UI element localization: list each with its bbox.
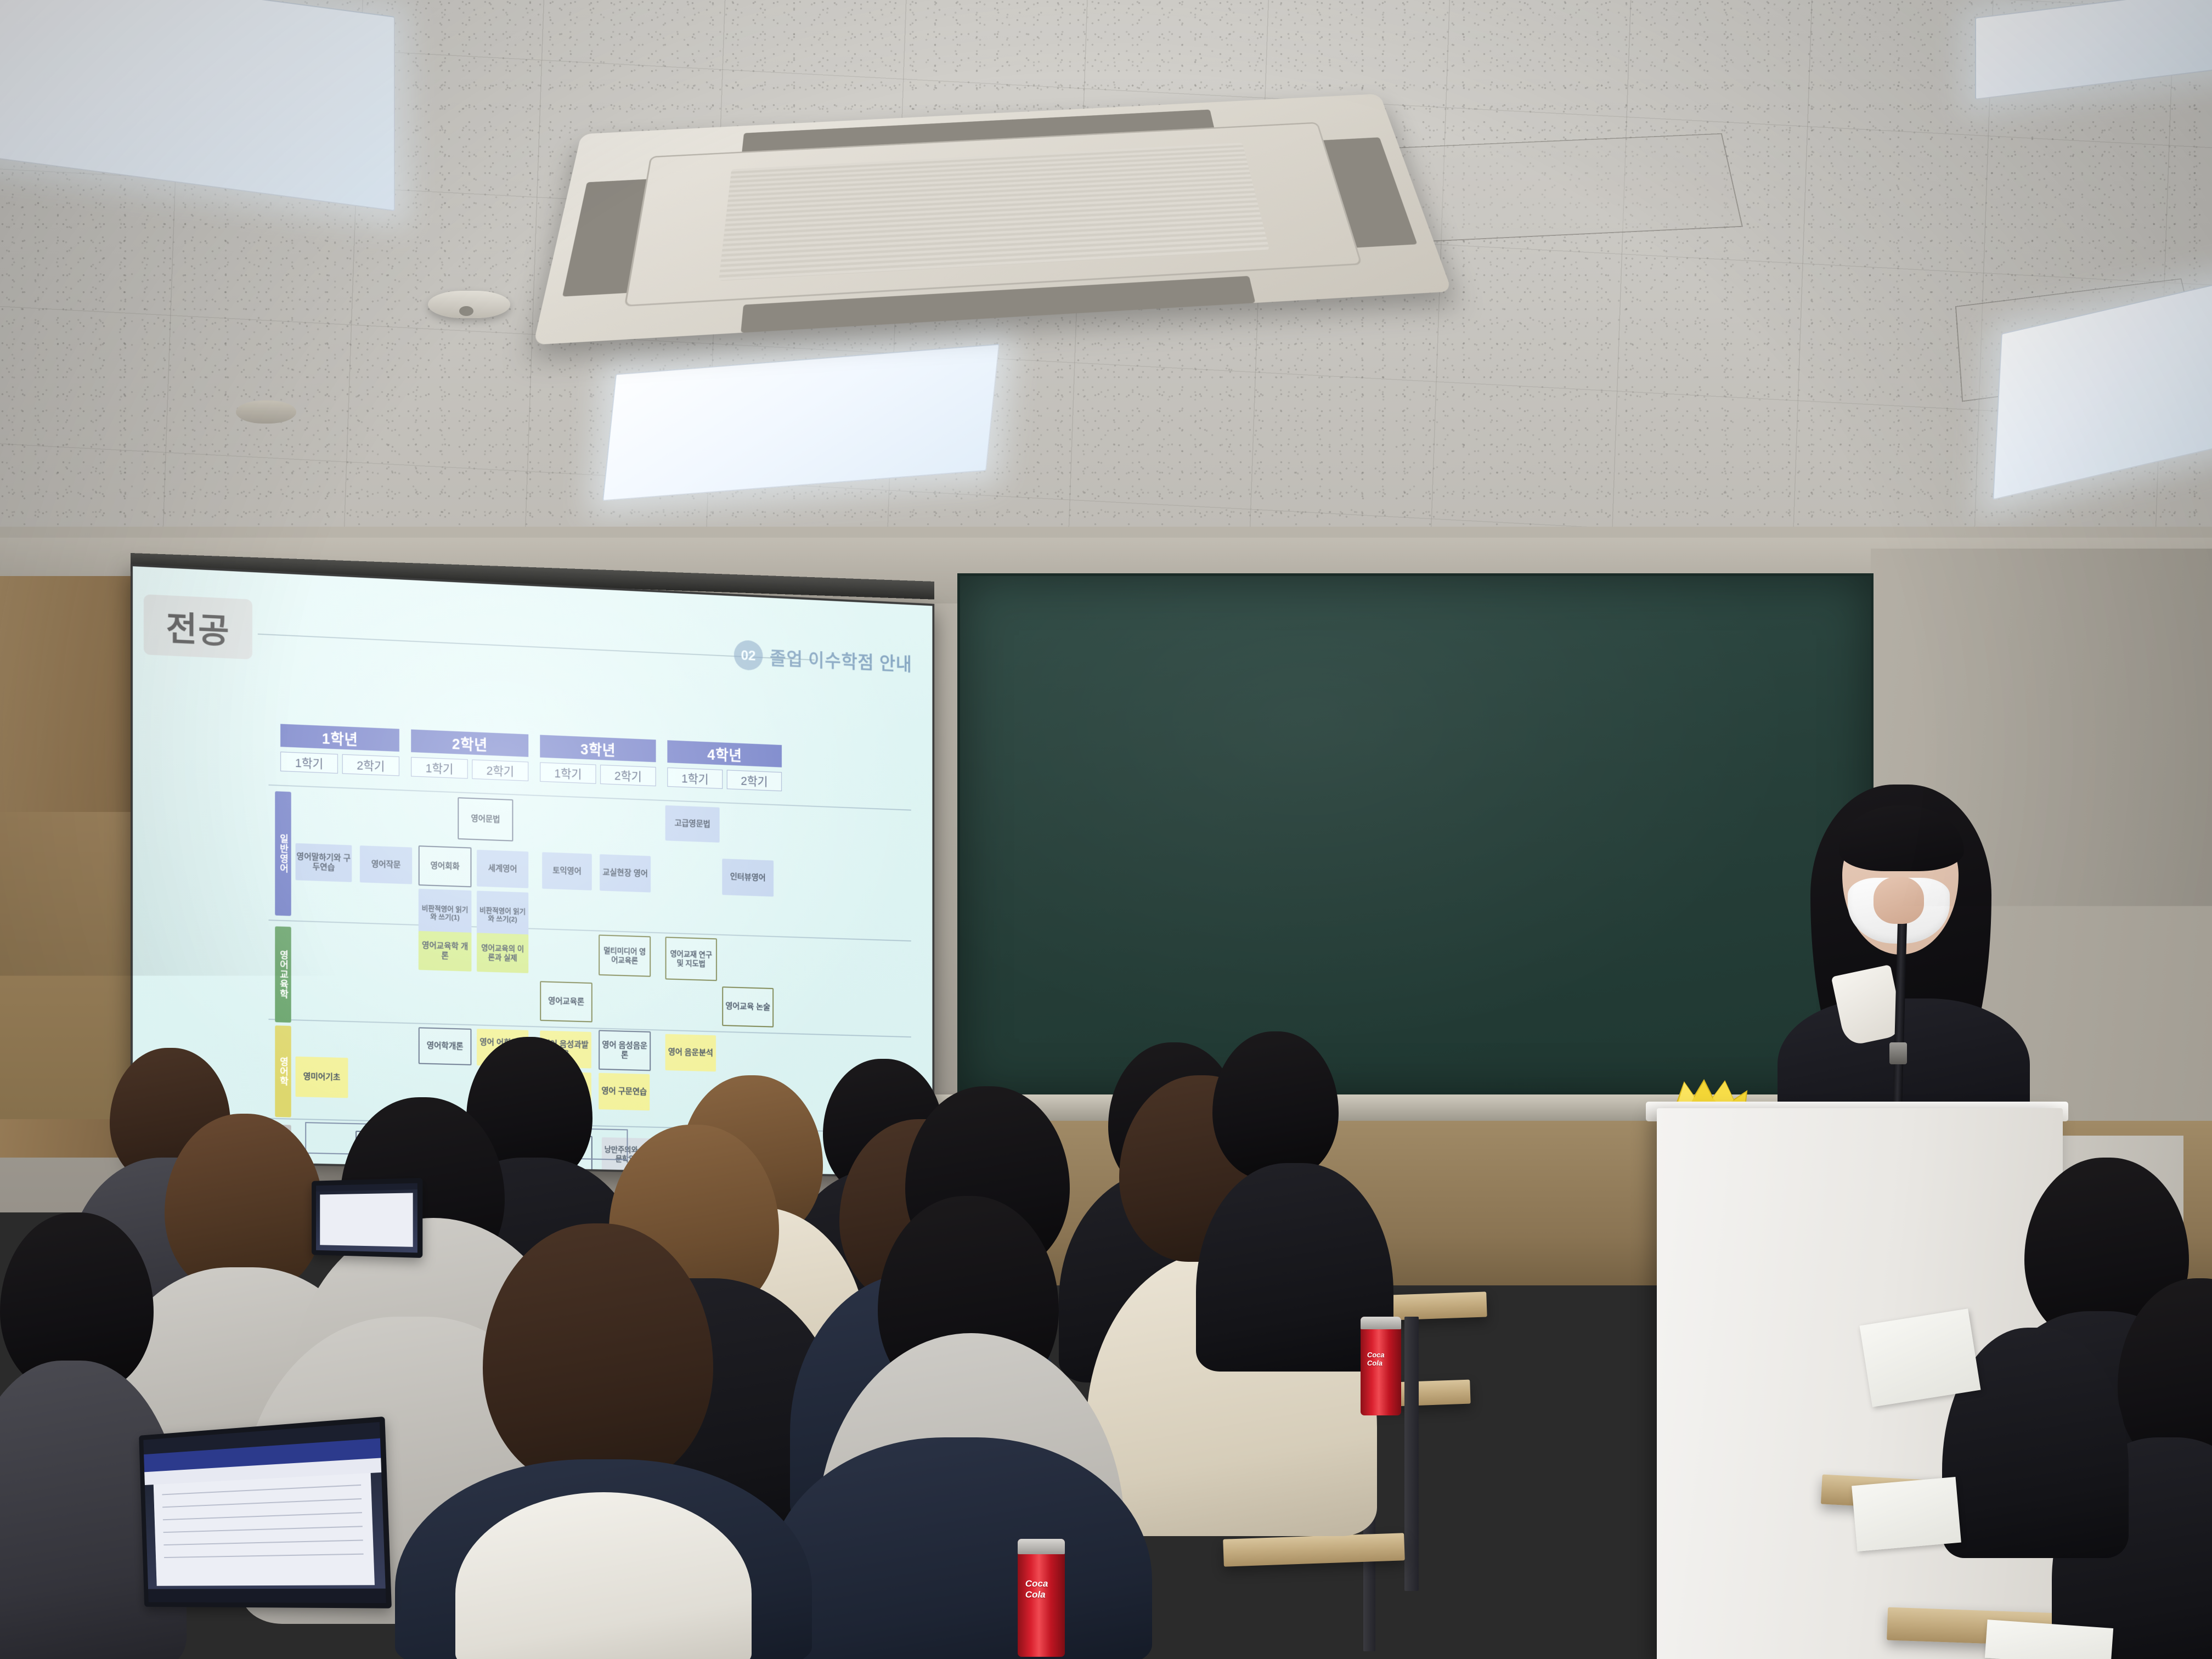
slide-title-chip: 전공 — [144, 594, 252, 659]
audience-head — [483, 1223, 713, 1487]
laptop-titlebar — [316, 1183, 417, 1192]
semester-cell: 2학기 — [600, 765, 656, 786]
handout-paper — [1859, 1308, 1980, 1407]
smoke-detector-icon — [428, 291, 510, 318]
band-separator — [268, 785, 911, 811]
can-brand-label: Coca Cola — [1367, 1346, 1396, 1372]
can-top — [1361, 1317, 1401, 1329]
laptop-document-page — [320, 1193, 413, 1247]
semester-cell: 1학기 — [280, 752, 338, 774]
grade-column: 4학년 1학기 2학기 — [667, 740, 782, 791]
course-box: 영어작문 — [360, 845, 412, 884]
left-wall-panel — [0, 812, 137, 1119]
course-box: 교실현장 영어 — [600, 854, 651, 893]
course-box: 영어교육 논술 — [722, 986, 774, 1027]
course-box: 영어 음운분석 — [665, 1034, 716, 1072]
grade-label: 4학년 — [667, 740, 782, 767]
course-box: 영어학개론 — [419, 1027, 472, 1065]
can-brand-label: Coca Cola — [1025, 1575, 1058, 1605]
course-box: 영어말하기와 구두연습 — [296, 843, 352, 882]
semester-row: 1학기 2학기 — [667, 768, 782, 791]
band-label-general-english: 일반영어 — [275, 791, 291, 916]
semester-cell: 2학기 — [472, 759, 528, 781]
course-box: 영어교육학 개론 — [419, 931, 472, 972]
grade-column: 3학년 1학기 2학기 — [540, 735, 656, 786]
handout-paper — [229, 1603, 391, 1659]
course-box: 영미어기초 — [296, 1057, 348, 1098]
grade-label: 2학년 — [411, 730, 528, 757]
laptop-text-lines — [162, 1485, 364, 1560]
semester-cell: 2학기 — [342, 754, 399, 776]
course-box: 영어문법 — [458, 797, 513, 841]
page-title: 전공 — [166, 601, 230, 653]
course-box: 영어 음성음운론 — [599, 1030, 651, 1071]
course-box: 고급영문법 — [665, 805, 720, 843]
band-separator — [268, 919, 911, 941]
grade-column: 1학년 1학기 2학기 — [280, 724, 399, 776]
soda-can: Coca Cola — [1018, 1539, 1065, 1657]
grade-header-row: 1학년 1학기 2학기 2학년 1학기 2학기 3학년 1 — [280, 724, 782, 792]
semester-cell: 1학기 — [540, 762, 596, 783]
chalkboard — [957, 573, 1874, 1100]
course-box: 세계영어 — [477, 850, 528, 888]
desk — [1223, 1533, 1405, 1566]
sprinkler-icon — [236, 400, 296, 424]
semester-cell: 1학기 — [667, 768, 723, 789]
grade-label: 3학년 — [540, 735, 656, 762]
microphone-clip — [1889, 1042, 1907, 1064]
presenter-hand — [1874, 877, 1924, 924]
grade-column: 2학년 1학기 2학기 — [411, 730, 528, 781]
laptop-taskbar — [148, 1589, 386, 1603]
course-box: 멀티미디어 영어교육론 — [599, 935, 651, 977]
soda-can: Coca Cola — [1361, 1317, 1401, 1415]
course-box: 영어교육론 — [540, 981, 592, 1022]
section-title: 졸업 이수학점 안내 — [770, 644, 912, 676]
semester-cell: 2학기 — [727, 770, 782, 791]
semester-row: 1학기 2학기 — [280, 752, 399, 776]
course-box: 비판적영어 읽기와 쓰기(2) — [477, 891, 528, 939]
band-label-english-linguistics: 영어학 — [275, 1025, 291, 1117]
slide-section-header: 02 졸업 이수학점 안내 — [734, 640, 912, 678]
semester-row: 1학기 2학기 — [540, 762, 656, 786]
course-box: 영어회화 — [419, 845, 472, 887]
desk-leg — [1404, 1317, 1419, 1591]
course-box: 인터뷰영어 — [722, 859, 774, 896]
course-box: 영어교육의 이론과 실제 — [477, 933, 528, 973]
semester-cell: 1학기 — [411, 757, 467, 779]
audience-head — [1212, 1031, 1339, 1180]
ac-filter — [719, 143, 1269, 280]
handout-paper — [1852, 1477, 1961, 1551]
grade-label: 1학년 — [280, 724, 399, 752]
section-number-badge: 02 — [734, 640, 763, 671]
ac-grille — [624, 122, 1362, 307]
band-label-english-education: 영어교육학 — [275, 926, 291, 1023]
slide-divider — [258, 634, 815, 661]
course-box: 비판적영어 읽기와 쓰기(1) — [419, 889, 472, 937]
course-box: 영어교재 연구 및 지도법 — [665, 936, 717, 981]
can-top — [1018, 1539, 1065, 1554]
course-box: 토익영어 — [542, 852, 592, 890]
lecture-hall-photo: 전공 02 졸업 이수학점 안내 1학년 1학기 2학기 2학년 — [0, 0, 2212, 1659]
semester-row: 1학기 2학기 — [411, 757, 528, 781]
laptop-screen[interactable] — [312, 1178, 422, 1258]
course-box: 영어 구문연습 — [599, 1073, 650, 1111]
laptop-screen[interactable] — [139, 1417, 392, 1609]
